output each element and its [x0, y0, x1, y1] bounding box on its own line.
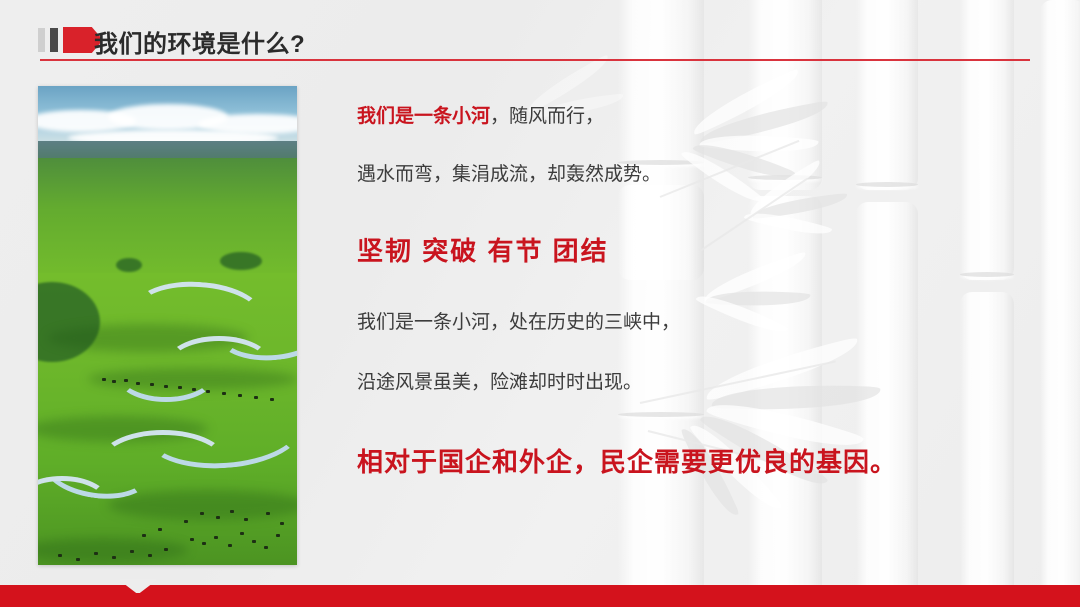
horse-icon	[130, 550, 134, 553]
paragraph-1-line-1-highlight: 我们是一条小河	[357, 106, 490, 127]
header-divider	[40, 59, 1030, 61]
slide-header: 我们的环境是什么?	[0, 0, 1080, 62]
horse-icon	[230, 510, 234, 513]
horse-icon	[244, 518, 248, 521]
horse-icon	[200, 512, 204, 515]
footer-bar	[0, 585, 1080, 607]
paragraph-1-line-2: 遇水而弯，集涓成流，却轰然成势。	[357, 162, 1047, 188]
horse-icon	[252, 540, 256, 543]
horse-icon	[112, 556, 116, 559]
horse-icon	[94, 552, 98, 555]
horse-icon	[136, 382, 140, 385]
horse-icon	[184, 520, 188, 523]
horse-icon	[102, 378, 106, 381]
horse-icon	[158, 528, 162, 531]
horse-icon	[178, 386, 182, 389]
photo-canvas	[38, 86, 297, 565]
horse-icon	[228, 544, 232, 547]
horse-icon	[202, 542, 206, 545]
horse-icon	[164, 385, 168, 388]
horse-icon	[238, 394, 242, 397]
horse-icon	[206, 390, 210, 393]
horse-icon	[142, 534, 146, 537]
page-title: 我们的环境是什么?	[94, 24, 305, 59]
paragraph-1-line-1-rest: ，随风而行，	[490, 106, 604, 127]
slide-root: 我们的环境是什么?	[0, 0, 1080, 607]
horse-icon	[150, 383, 154, 386]
slogan-line: 坚韧 突破 有节 团结	[357, 231, 1047, 268]
paragraph-2-line-1: 我们是一条小河，处在历史的三峡中，	[357, 310, 1047, 336]
slide-body: 我们是一条小河，随风而行， 遇水而弯，集涓成流，却轰然成势。 坚韧 突破 有节 …	[357, 104, 1047, 479]
horse-icon	[190, 538, 194, 541]
horse-icon	[76, 558, 80, 561]
horse-icon	[270, 398, 274, 401]
photo-mound	[116, 258, 142, 272]
horse-icon	[214, 536, 218, 539]
horse-icon	[112, 380, 116, 383]
photo-shadow	[108, 490, 297, 520]
mark-bar-dark-icon	[50, 28, 58, 52]
horse-icon	[276, 534, 280, 537]
horse-icon	[164, 548, 168, 551]
horse-icon	[148, 554, 152, 557]
paragraph-1-line-1: 我们是一条小河，随风而行，	[357, 104, 1047, 130]
grassland-river-photo	[38, 86, 297, 565]
horse-icon	[216, 516, 220, 519]
paragraph-2-line-2: 沿途风景虽美，险滩却时时出现。	[357, 370, 1047, 396]
horse-icon	[280, 522, 284, 525]
horse-icon	[58, 554, 62, 557]
final-statement: 相对于国企和外企，民企需要更优良的基因。	[357, 442, 1047, 479]
horse-icon	[266, 512, 270, 515]
horse-icon	[222, 392, 226, 395]
horse-icon	[254, 396, 258, 399]
horse-icon	[124, 379, 128, 382]
horse-icon	[240, 532, 244, 535]
photo-mound	[220, 252, 262, 270]
mark-bar-light-icon	[38, 28, 45, 52]
horse-icon	[192, 388, 196, 391]
horse-icon	[264, 546, 268, 549]
